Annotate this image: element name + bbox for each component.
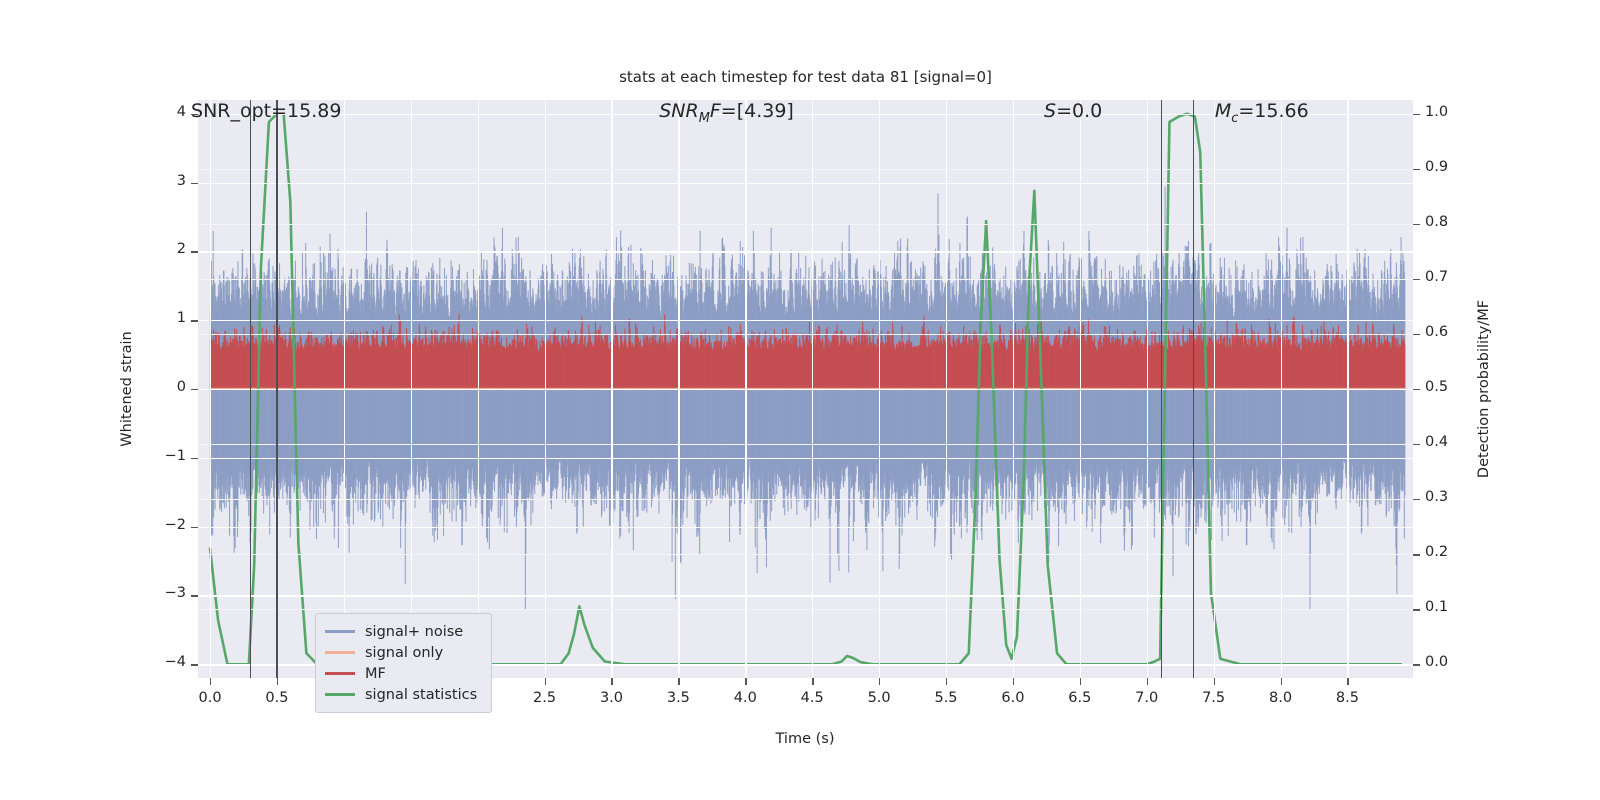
y-axis-right-tick xyxy=(1413,224,1420,225)
x-axis-tick xyxy=(1013,678,1014,685)
y-axis-right-tick xyxy=(1413,389,1420,390)
y-axis-right-tick xyxy=(1413,554,1420,555)
y-axis-right-tick xyxy=(1413,499,1420,500)
y-axis-left-tick-label: −2 xyxy=(165,517,186,533)
x-axis-tick-label: 8.0 xyxy=(1269,690,1292,706)
x-axis-tick-label: 2.5 xyxy=(533,690,556,706)
y-axis-left-tick-label: −1 xyxy=(165,448,186,464)
y-axis-right-tick-label: 0.4 xyxy=(1425,434,1448,450)
x-axis-tick xyxy=(678,678,679,685)
x-axis-tick xyxy=(946,678,947,685)
page-title: stats at each timestep for test data 81 … xyxy=(198,68,1413,86)
gridline-horizontal-secondary xyxy=(198,554,1413,555)
y-axis-right-title: Detection probability/MF xyxy=(1476,300,1492,478)
gridline-horizontal xyxy=(198,458,1413,459)
y-axis-right-tick xyxy=(1413,279,1420,280)
gridline-horizontal-secondary xyxy=(198,169,1413,170)
legend-label: signal statistics xyxy=(365,687,477,703)
legend-label: signal only xyxy=(365,645,443,661)
y-axis-left-tick xyxy=(191,664,198,665)
legend-color-swatch xyxy=(325,651,355,653)
gridline-horizontal xyxy=(198,183,1413,184)
y-axis-left-tick xyxy=(191,320,198,321)
annotation-chirp-mass: Mc=15.66 xyxy=(1215,100,1309,126)
plot-area[interactable] xyxy=(198,100,1413,678)
x-axis-tick xyxy=(745,678,746,685)
x-axis-tick-label: 3.5 xyxy=(667,690,690,706)
x-axis-tick-label: 0.5 xyxy=(265,690,288,706)
y-axis-right-tick-label: 0.6 xyxy=(1425,324,1448,340)
x-axis-tick-label: 6.0 xyxy=(1001,690,1024,706)
legend-item[interactable]: MF xyxy=(316,663,491,684)
y-axis-left-tick xyxy=(191,527,198,528)
x-axis-tick-label: 4.5 xyxy=(801,690,824,706)
y-axis-right-tick xyxy=(1413,334,1420,335)
y-axis-right-tick-label: 1.0 xyxy=(1425,104,1448,120)
x-axis-tick xyxy=(812,678,813,685)
gridline-horizontal-secondary xyxy=(198,444,1413,445)
signal-window-marker xyxy=(250,100,252,678)
x-axis-tick-label: 7.5 xyxy=(1202,690,1225,706)
gridline-horizontal-secondary xyxy=(198,609,1413,610)
legend-item[interactable]: signal only xyxy=(316,642,491,663)
legend-color-swatch xyxy=(325,672,355,674)
legend[interactable]: signal+ noisesignal onlyMFsignal statist… xyxy=(315,613,492,713)
legend-item[interactable]: signal+ noise xyxy=(316,621,491,642)
y-axis-right-tick-label: 0.9 xyxy=(1425,159,1448,175)
annotation-snr-opt: SNR_opt=15.89 xyxy=(191,100,341,122)
gridline-horizontal-secondary xyxy=(198,499,1413,500)
y-axis-right-tick-label: 0.5 xyxy=(1425,379,1448,395)
x-axis-tick xyxy=(545,678,546,685)
y-axis-left-tick xyxy=(191,595,198,596)
y-axis-left-tick-label: −4 xyxy=(165,654,186,670)
x-axis-tick-label: 5.0 xyxy=(868,690,891,706)
y-axis-left-tick-label: 2 xyxy=(177,241,186,257)
x-axis-tick xyxy=(611,678,612,685)
gridline-horizontal xyxy=(198,595,1413,596)
legend-label: MF xyxy=(365,666,386,682)
y-axis-left-tick xyxy=(191,389,198,390)
figure-canvas: stats at each timestep for test data 81 … xyxy=(0,0,1600,800)
x-axis-tick-label: 5.5 xyxy=(934,690,957,706)
y-axis-right-tick-label: 0.3 xyxy=(1425,489,1448,505)
x-axis-tick-label: 8.5 xyxy=(1336,690,1359,706)
y-axis-right-tick xyxy=(1413,444,1420,445)
x-axis-tick-label: 0.0 xyxy=(199,690,222,706)
y-axis-left-tick-label: 1 xyxy=(177,310,186,326)
y-axis-left-title: Whitened strain xyxy=(119,331,135,446)
y-axis-right-tick-label: 0.2 xyxy=(1425,544,1448,560)
x-axis-tick xyxy=(879,678,880,685)
gridline-horizontal-secondary xyxy=(198,334,1413,335)
y-axis-right-tick-label: 0.7 xyxy=(1425,269,1448,285)
gridline-horizontal xyxy=(198,389,1413,390)
signal-window-marker xyxy=(1161,100,1163,678)
y-axis-left-tick-label: 3 xyxy=(177,173,186,189)
legend-item[interactable]: signal statistics xyxy=(316,684,491,705)
x-axis-tick xyxy=(1080,678,1081,685)
x-axis-tick xyxy=(1281,678,1282,685)
y-axis-left-tick xyxy=(191,458,198,459)
series-signal-plus-noise xyxy=(210,186,1404,609)
x-axis-tick-label: 3.0 xyxy=(600,690,623,706)
y-axis-right-tick xyxy=(1413,609,1420,610)
y-axis-left-tick xyxy=(191,251,198,252)
gridline-horizontal xyxy=(198,527,1413,528)
y-axis-left-tick-label: −3 xyxy=(165,585,186,601)
signal-window-marker xyxy=(276,100,278,678)
annotation-significance: S=0.0 xyxy=(1044,100,1102,122)
legend-label: signal+ noise xyxy=(365,624,463,640)
y-axis-right-tick xyxy=(1413,664,1420,665)
x-axis-tick xyxy=(1214,678,1215,685)
y-axis-right-tick-label: 0.8 xyxy=(1425,214,1448,230)
x-axis-tick-label: 7.0 xyxy=(1135,690,1158,706)
annotation-snr-mf: SNRMF=[4.39] xyxy=(659,100,794,126)
y-axis-left-tick xyxy=(191,183,198,184)
x-axis-tick-label: 6.5 xyxy=(1068,690,1091,706)
x-axis-tick-label: 4.0 xyxy=(734,690,757,706)
x-axis-tick xyxy=(1347,678,1348,685)
y-axis-left-tick-label: 0 xyxy=(177,379,186,395)
gridline-horizontal-secondary xyxy=(198,279,1413,280)
y-axis-right-tick xyxy=(1413,114,1420,115)
signal-window-marker xyxy=(1193,100,1195,678)
x-axis-tick xyxy=(277,678,278,685)
x-axis-tick xyxy=(210,678,211,685)
legend-color-swatch xyxy=(325,630,355,632)
y-axis-right-tick-label: 0.0 xyxy=(1425,654,1448,670)
gridline-horizontal-secondary xyxy=(198,224,1413,225)
y-axis-left-tick-label: 4 xyxy=(177,104,186,120)
gridline-horizontal xyxy=(198,320,1413,321)
gridline-horizontal xyxy=(198,251,1413,252)
y-axis-right-tick xyxy=(1413,169,1420,170)
x-axis-title: Time (s) xyxy=(776,731,835,747)
y-axis-right-tick-label: 0.1 xyxy=(1425,599,1448,615)
legend-color-swatch xyxy=(325,693,355,695)
x-axis-tick xyxy=(1147,678,1148,685)
